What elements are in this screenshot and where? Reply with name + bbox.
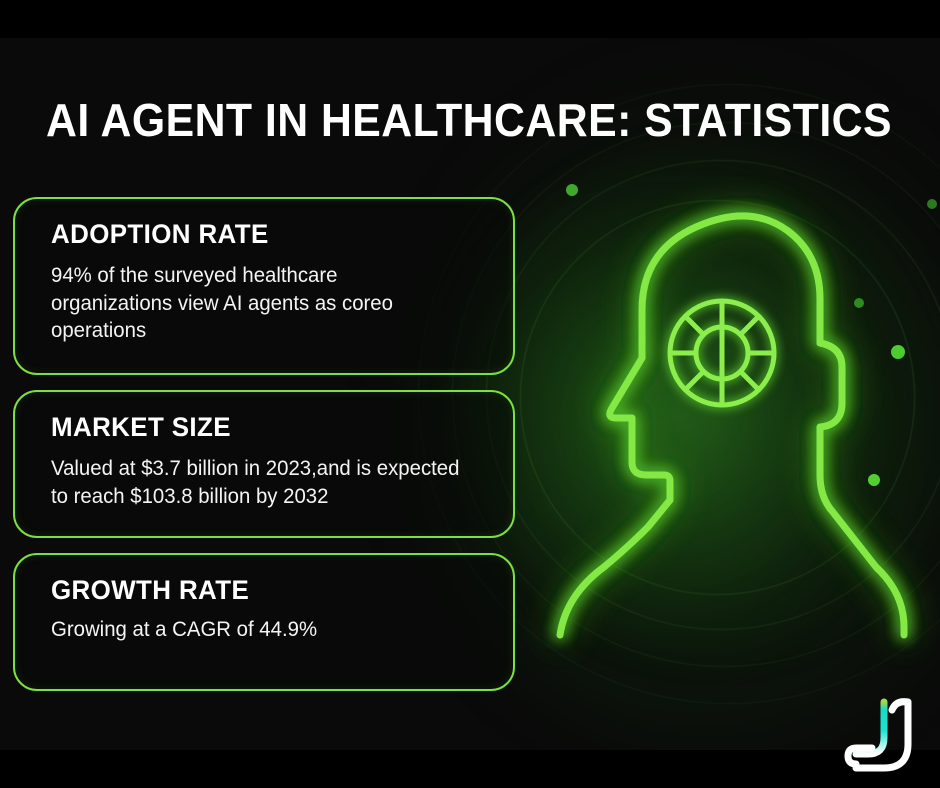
logo-icon <box>834 692 926 778</box>
stat-card-heading: GROWTH RATE <box>51 575 460 606</box>
double-j-monogram-logo[interactable] <box>834 692 926 778</box>
head-profile-icon <box>520 175 940 635</box>
stat-card-heading: ADOPTION RATE <box>51 219 460 250</box>
page-title: AI AGENT IN HEALTHCARE: STATISTICS <box>46 96 846 144</box>
stat-card-heading: MARKET SIZE <box>51 412 460 443</box>
stat-card-body: 94% of the surveyed healthcare organizat… <box>51 262 464 345</box>
stat-card-growth-rate[interactable]: GROWTH RATE Growing at a CAGR of 44.9% <box>13 553 515 691</box>
background-band-top <box>0 0 940 38</box>
stat-card-market-size[interactable]: MARKET SIZE Valued at $3.7 billion in 20… <box>13 390 515 538</box>
background-band-bottom <box>0 750 940 788</box>
stat-card-adoption-rate[interactable]: ADOPTION RATE 94% of the surveyed health… <box>13 197 515 375</box>
head-outline-path <box>610 216 904 635</box>
infographic-poster: AI AGENT IN HEALTHCARE: STATISTICS ADOPT… <box>0 0 940 788</box>
ai-head-profile-illustration <box>520 175 940 635</box>
gear-wheel-brain-icon <box>670 301 774 405</box>
shoulder-left-path <box>560 500 670 635</box>
stat-card-body: Valued at $3.7 billion in 2023,and is ex… <box>51 455 464 510</box>
stat-card-body: Growing at a CAGR of 44.9% <box>51 616 464 644</box>
